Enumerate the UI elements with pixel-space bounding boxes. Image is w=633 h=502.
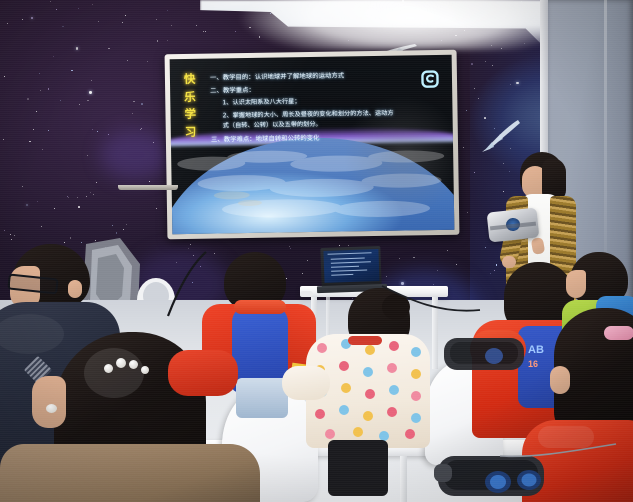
star bbox=[90, 192, 91, 193]
star bbox=[10, 234, 11, 235]
trousers bbox=[328, 440, 388, 496]
pink-hair-tie bbox=[604, 326, 633, 340]
star bbox=[33, 129, 34, 130]
ear bbox=[68, 280, 82, 298]
star bbox=[71, 70, 73, 72]
projection-screen: 快 乐 学 习 一、教学目的：认识地球并了解地球的运动方式 二、教学重点： 1、… bbox=[170, 55, 455, 234]
star bbox=[97, 131, 98, 132]
star bbox=[48, 88, 50, 90]
star bbox=[456, 264, 457, 265]
star bbox=[141, 103, 143, 105]
laptop-lid bbox=[320, 246, 381, 287]
star bbox=[22, 186, 23, 187]
star bbox=[56, 9, 57, 10]
star bbox=[485, 61, 486, 62]
star bbox=[54, 208, 55, 209]
rocket-icon bbox=[478, 118, 524, 154]
hair-sheen bbox=[84, 348, 144, 398]
pearl bbox=[116, 358, 126, 368]
star bbox=[37, 201, 38, 202]
coat bbox=[0, 444, 260, 502]
star bbox=[77, 197, 78, 198]
star bbox=[147, 61, 148, 62]
star bbox=[78, 8, 79, 9]
star bbox=[167, 10, 168, 11]
star bbox=[485, 247, 486, 248]
star bbox=[78, 206, 80, 208]
cable bbox=[498, 440, 618, 470]
collar bbox=[234, 300, 286, 314]
star bbox=[93, 194, 94, 195]
star bbox=[86, 196, 87, 197]
star bbox=[466, 110, 467, 111]
star bbox=[79, 104, 80, 105]
star bbox=[132, 113, 133, 114]
screen-reflection bbox=[170, 55, 455, 234]
star bbox=[196, 25, 197, 26]
collar-red bbox=[348, 336, 382, 345]
star bbox=[108, 134, 109, 135]
star bbox=[62, 26, 64, 28]
star bbox=[348, 245, 349, 246]
pearl bbox=[104, 364, 113, 373]
star bbox=[471, 63, 473, 65]
star bbox=[41, 226, 42, 227]
star bbox=[149, 181, 150, 182]
star bbox=[60, 100, 61, 101]
child-red-jacket-left bbox=[168, 330, 248, 450]
screen-stand bbox=[118, 185, 178, 190]
star bbox=[4, 230, 5, 231]
star bbox=[27, 98, 29, 100]
star bbox=[205, 31, 206, 32]
photo-scene: 快 乐 学 习 一、教学目的：认识地球并了解地球的运动方式 二、教学重点： 1、… bbox=[0, 0, 633, 502]
ring bbox=[46, 404, 57, 413]
hand-raised bbox=[32, 376, 66, 428]
sleeve bbox=[282, 366, 330, 400]
cable bbox=[380, 280, 490, 350]
nebula-blob bbox=[100, 130, 170, 180]
star bbox=[386, 276, 387, 277]
star bbox=[96, 182, 97, 183]
star bbox=[126, 224, 127, 225]
star bbox=[125, 15, 126, 16]
star bbox=[87, 155, 88, 156]
star bbox=[70, 237, 72, 239]
pearl bbox=[129, 360, 138, 369]
laptop-screen bbox=[323, 249, 379, 283]
star bbox=[68, 197, 69, 198]
star bbox=[413, 257, 415, 259]
star bbox=[3, 139, 4, 140]
sleeve-red bbox=[168, 350, 238, 396]
star bbox=[64, 242, 65, 243]
star bbox=[22, 19, 23, 20]
star bbox=[112, 225, 113, 226]
star bbox=[87, 100, 89, 102]
star bbox=[123, 229, 124, 230]
pearl bbox=[141, 366, 149, 374]
cable bbox=[150, 250, 210, 320]
star bbox=[156, 19, 157, 20]
star bbox=[478, 98, 479, 99]
desk-leg bbox=[400, 456, 407, 502]
star bbox=[339, 245, 340, 246]
projection-screen-frame: 快 乐 学 习 一、教学目的：认识地球并了解地球的运动方式 二、教学重点： 1、… bbox=[165, 50, 460, 240]
star bbox=[98, 21, 99, 22]
star bbox=[89, 91, 91, 93]
ear bbox=[550, 366, 570, 394]
star bbox=[171, 25, 172, 26]
face-profile bbox=[566, 270, 586, 298]
